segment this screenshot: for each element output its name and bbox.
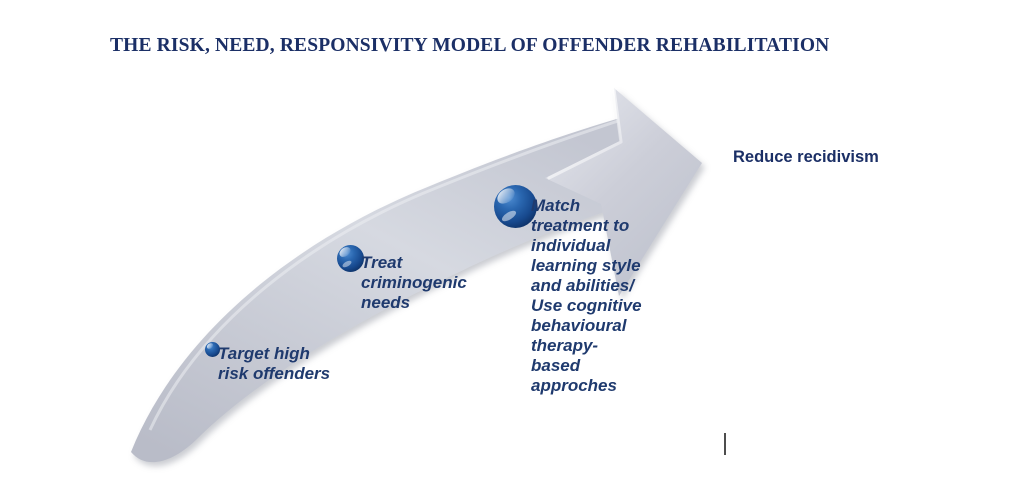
step-marker-sphere-medium[interactable] [337, 245, 364, 272]
step-label-match-treatment: Match treatment to individual learning s… [531, 196, 642, 396]
ascending-curved-arrow [0, 0, 1024, 501]
page-title: THE RISK, NEED, RESPONSIVITY MODEL OF OF… [110, 34, 910, 57]
slide-canvas: THE RISK, NEED, RESPONSIVITY MODEL OF OF… [0, 0, 1024, 501]
caret-mark [724, 433, 726, 455]
step-label-target-high-risk-offenders: Target high risk offenders [218, 344, 330, 384]
step-label-treat-criminogenic-needs: Treat criminogenic needs [361, 253, 467, 313]
outcome-label-reduce-recidivism: Reduce recidivism [733, 148, 879, 167]
